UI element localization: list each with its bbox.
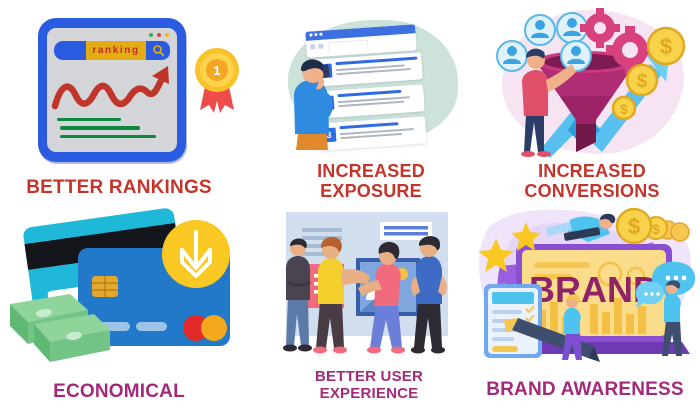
award-ribbon-icon: 1 — [192, 44, 242, 116]
conversion-funnel-scene: $ $ $ — [484, 2, 700, 162]
card-caption: ECONOMICAL — [0, 381, 238, 402]
illustration-better-user-experience — [258, 206, 480, 369]
illustration-increased-conversions: $ $ $ — [484, 2, 700, 161]
svg-text:$: $ — [652, 221, 660, 237]
window-dot — [319, 33, 322, 36]
window-dot — [309, 33, 312, 36]
infographic-board: ranking — [0, 0, 700, 408]
team-reviewing-design-scene — [258, 206, 480, 368]
result-title-line — [339, 122, 398, 130]
ranking-growth-graph — [47, 62, 177, 124]
card-economical: ECONOMICAL — [0, 206, 238, 406]
window-control-dots — [149, 33, 169, 37]
browser-window-content: ranking — [47, 28, 177, 152]
browser-tab[interactable] — [328, 40, 369, 54]
result-title-line — [335, 57, 417, 66]
brand-awareness-scene: BRAND $ $ — [470, 206, 700, 368]
card-brand-awareness: BRAND $ $ — [470, 206, 700, 406]
result-bar — [60, 135, 156, 139]
card-increased-exposure: 1 2 3 — [262, 2, 480, 204]
result-bar — [57, 118, 121, 122]
illustration-brand-awareness: BRAND $ $ — [470, 206, 700, 379]
window-dot-green — [149, 33, 153, 37]
card-better-user-experience: BETTER USER EXPERIENCE — [258, 206, 480, 406]
toolbar-square — [310, 44, 315, 49]
window-dot-yellow — [165, 33, 169, 37]
card-caption: BETTER RANKINGS — [0, 177, 238, 198]
svg-text:$: $ — [620, 101, 628, 117]
search-bar-tab — [54, 41, 86, 60]
search-bar[interactable]: ranking — [54, 41, 170, 60]
toolbar-square — [318, 44, 323, 49]
result-bar — [60, 126, 140, 130]
window-dot — [314, 33, 317, 36]
card-caption: INCREASED CONVERSIONS — [484, 161, 700, 201]
search-input[interactable]: ranking — [86, 41, 146, 60]
illustration-better-rankings: ranking — [0, 2, 238, 177]
svg-text:$: $ — [637, 71, 648, 92]
illustration-increased-exposure: 1 2 3 — [262, 2, 480, 161]
person-on-phone-illustration — [282, 58, 342, 150]
result-bars — [57, 118, 165, 144]
search-icon[interactable] — [146, 41, 170, 60]
browser-window-frame: ranking — [38, 18, 186, 162]
svg-text:$: $ — [628, 214, 640, 239]
card-increased-conversions: $ $ $ — [484, 2, 700, 204]
toolbar-squares — [310, 44, 323, 50]
svg-text:$: $ — [660, 34, 672, 59]
window-dot-red — [157, 33, 161, 37]
svg-text:1: 1 — [213, 63, 220, 78]
illustration-economical — [0, 206, 238, 381]
card-better-rankings: ranking — [0, 2, 238, 204]
card-caption: BRAND AWARENESS — [470, 379, 700, 400]
credit-cards-and-cash-scene — [0, 206, 238, 366]
card-caption: BETTER USER EXPERIENCE — [258, 369, 480, 403]
download-icon — [162, 220, 230, 288]
card-caption: INCREASED EXPOSURE — [262, 161, 480, 201]
